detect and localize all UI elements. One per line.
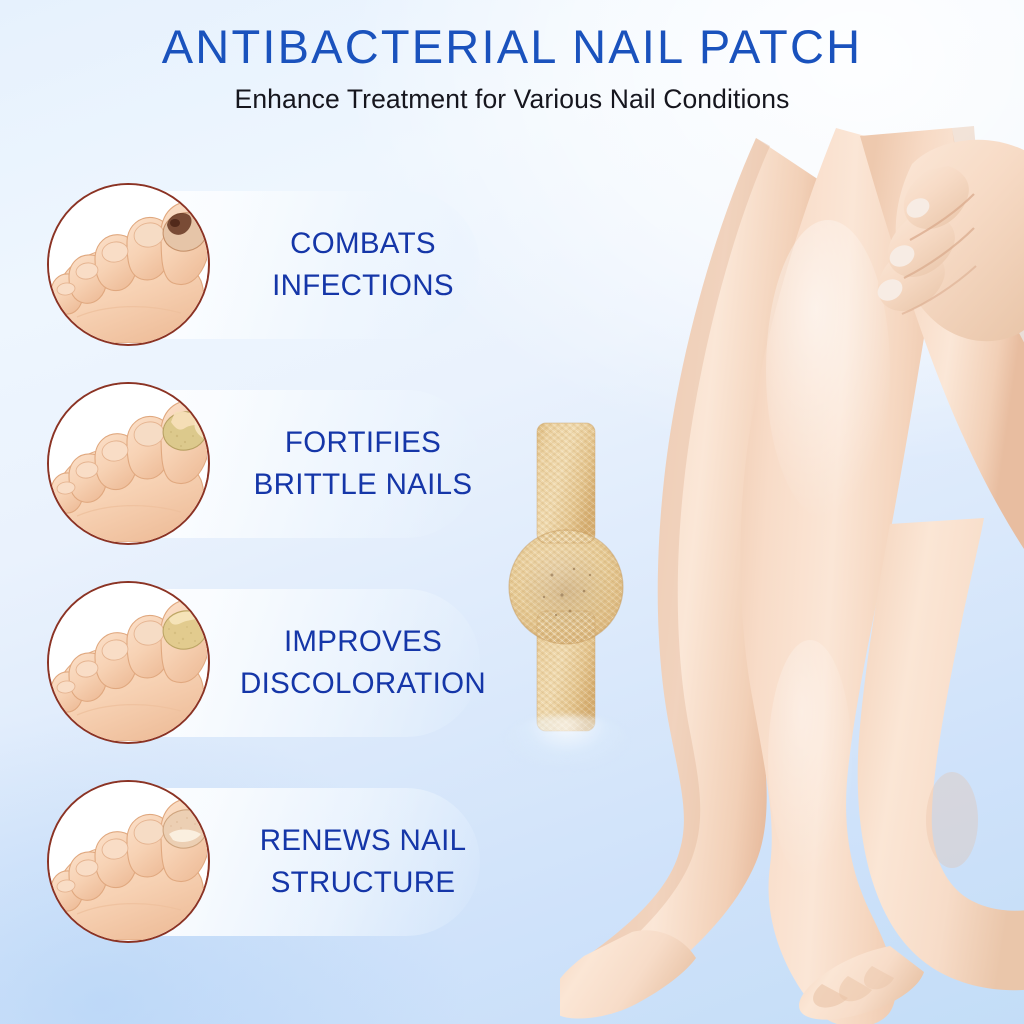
feature-list: COMBATS INFECTIONS bbox=[0, 183, 520, 943]
feature-label: IMPROVES DISCOLORATION bbox=[222, 581, 504, 744]
foot-infected-toenail-icon bbox=[47, 183, 210, 346]
feature-label-line2: STRUCTURE bbox=[271, 862, 456, 904]
product-poster: ANTIBACTERIAL NAIL PATCH Enhance Treatme… bbox=[0, 0, 1024, 1024]
feature-label-line1: FORTIFIES bbox=[285, 422, 441, 464]
feature-label: COMBATS INFECTIONS bbox=[222, 183, 504, 346]
feature-label-line1: COMBATS bbox=[290, 223, 436, 265]
feature-label: FORTIFIES BRITTLE NAILS bbox=[222, 382, 504, 545]
feature-label-line2: DISCOLORATION bbox=[240, 663, 486, 705]
feature-item[interactable]: RENEWS NAIL STRUCTURE bbox=[0, 780, 520, 943]
feature-label-line1: RENEWS NAIL bbox=[260, 820, 467, 862]
page-title: ANTIBACTERIAL NAIL PATCH bbox=[0, 0, 1024, 71]
foot-brittle-toenail-icon bbox=[47, 382, 210, 545]
foot-healthy-toenail-icon bbox=[47, 780, 210, 943]
page-subtitle: Enhance Treatment for Various Nail Condi… bbox=[0, 71, 1024, 114]
feature-item[interactable]: COMBATS INFECTIONS bbox=[0, 183, 520, 346]
patch-reflection bbox=[504, 715, 630, 769]
feature-label: RENEWS NAIL STRUCTURE bbox=[222, 780, 504, 943]
feature-label-line2: INFECTIONS bbox=[272, 265, 454, 307]
feature-item[interactable]: FORTIFIES BRITTLE NAILS bbox=[0, 382, 520, 545]
foot-discolored-toenail-icon bbox=[47, 581, 210, 744]
header: ANTIBACTERIAL NAIL PATCH Enhance Treatme… bbox=[0, 0, 1024, 114]
feature-item[interactable]: IMPROVES DISCOLORATION bbox=[0, 581, 520, 744]
feature-label-line1: IMPROVES bbox=[284, 621, 442, 663]
feature-label-line2: BRITTLE NAILS bbox=[254, 464, 473, 506]
